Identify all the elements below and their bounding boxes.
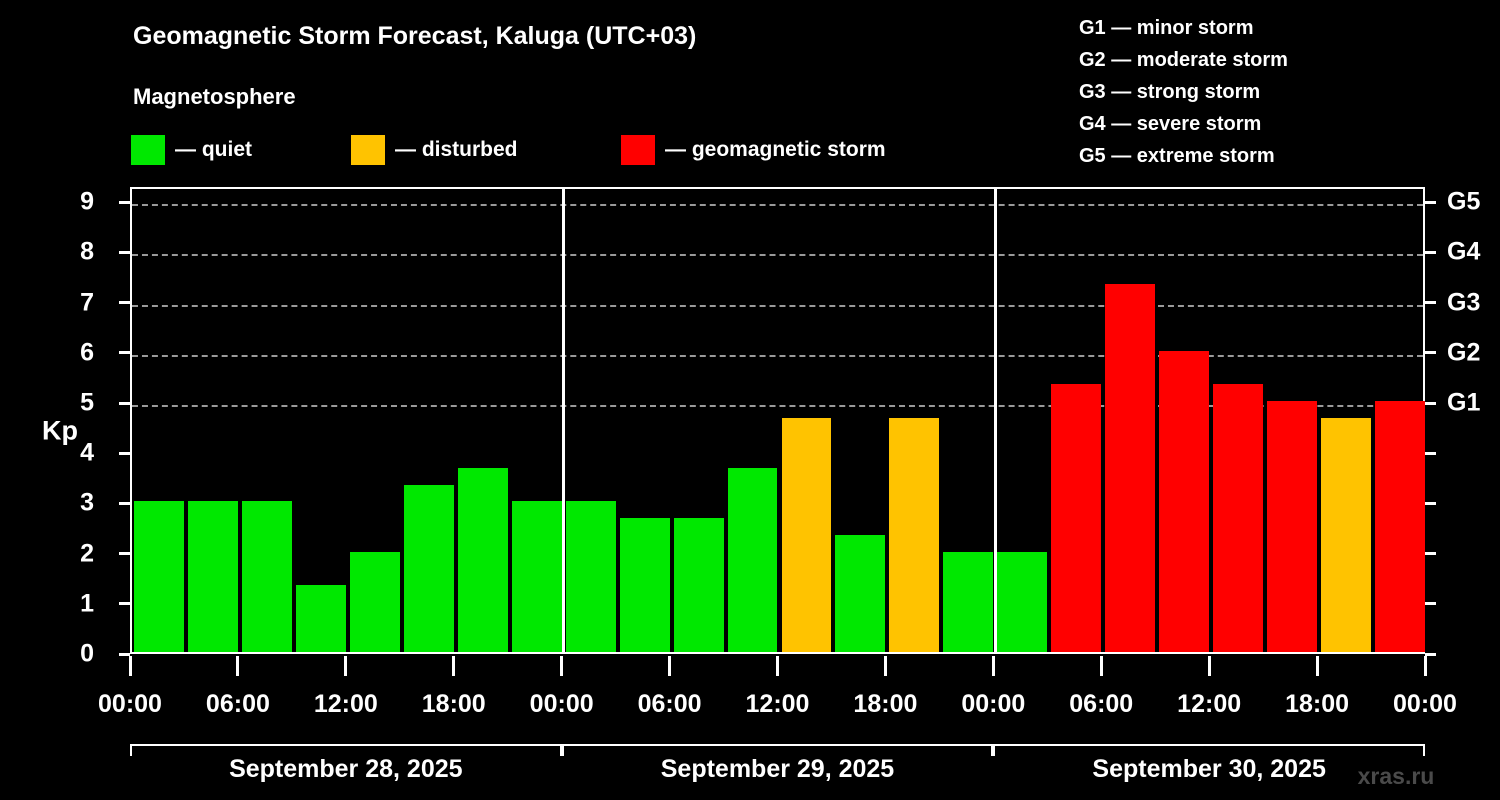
g-scale-legend: G1 — minor stormG2 — moderate stormG3 — … xyxy=(1079,12,1288,172)
x-tick-mark-4 xyxy=(560,656,563,676)
bar xyxy=(566,501,616,652)
x-tick-label-8: 00:00 xyxy=(961,690,1025,719)
x-tick-mark-2 xyxy=(344,656,347,676)
bar xyxy=(782,418,832,652)
legend-swatch-icon xyxy=(621,135,655,165)
x-tick-label-12: 00:00 xyxy=(1393,690,1457,719)
bar xyxy=(835,535,885,652)
magnetosphere-label: Magnetosphere xyxy=(133,84,296,110)
y-tick-label-2: 2 xyxy=(54,539,94,568)
bar xyxy=(1105,284,1155,652)
plot-frame xyxy=(130,187,1425,654)
plot-area xyxy=(132,189,1423,652)
x-tick-label-3: 18:00 xyxy=(422,690,486,719)
y-tick-mark-6 xyxy=(119,351,130,354)
bar xyxy=(997,552,1047,652)
x-tick-label-7: 18:00 xyxy=(853,690,917,719)
bar xyxy=(188,501,238,652)
g-legend-row-3: G3 — strong storm xyxy=(1079,76,1288,108)
bar xyxy=(1051,384,1101,652)
g-tick-label-G4: G4 xyxy=(1447,238,1480,267)
y-tick-mark-2 xyxy=(119,552,130,555)
y-tick-label-7: 7 xyxy=(54,288,94,317)
bar xyxy=(889,418,939,652)
bar xyxy=(458,468,508,652)
day-divider-2 xyxy=(994,189,997,652)
x-tick-mark-11 xyxy=(1316,656,1319,676)
g-legend-row-2: G2 — moderate storm xyxy=(1079,44,1288,76)
x-tick-mark-1 xyxy=(236,656,239,676)
g-minor-tick-kp-0 xyxy=(1425,653,1436,656)
y-tick-mark-3 xyxy=(119,502,130,505)
y-tick-label-9: 9 xyxy=(54,188,94,217)
x-tick-label-9: 06:00 xyxy=(1069,690,1133,719)
gridline-kp-6 xyxy=(132,355,1423,357)
bar xyxy=(674,518,724,652)
bar xyxy=(512,501,562,652)
gridline-kp-9 xyxy=(132,204,1423,206)
date-label-1: September 28, 2025 xyxy=(130,755,562,784)
g-minor-tick-kp-2 xyxy=(1425,552,1436,555)
bar xyxy=(350,552,400,652)
g-tick-mark-G5 xyxy=(1425,201,1436,204)
g-tick-mark-G3 xyxy=(1425,301,1436,304)
g-tick-mark-G1 xyxy=(1425,402,1436,405)
x-tick-label-11: 18:00 xyxy=(1285,690,1349,719)
x-tick-mark-5 xyxy=(668,656,671,676)
y-tick-label-5: 5 xyxy=(54,389,94,418)
legend-label: — quiet xyxy=(175,138,252,162)
bar xyxy=(943,552,993,652)
y-tick-label-1: 1 xyxy=(54,589,94,618)
y-tick-mark-9 xyxy=(119,201,130,204)
bar xyxy=(1321,418,1371,652)
x-tick-label-2: 12:00 xyxy=(314,690,378,719)
x-tick-mark-3 xyxy=(452,656,455,676)
gridline-kp-7 xyxy=(132,305,1423,307)
g-minor-tick-kp-4 xyxy=(1425,452,1436,455)
g-legend-row-4: G4 — severe storm xyxy=(1079,108,1288,140)
y-tick-mark-4 xyxy=(119,452,130,455)
x-tick-mark-6 xyxy=(776,656,779,676)
y-tick-mark-8 xyxy=(119,251,130,254)
bar xyxy=(728,468,778,652)
y-tick-label-0: 0 xyxy=(54,640,94,669)
legend-swatch-icon xyxy=(351,135,385,165)
bar xyxy=(1159,351,1209,652)
bar xyxy=(1375,401,1425,652)
x-tick-mark-9 xyxy=(1100,656,1103,676)
y-tick-mark-7 xyxy=(119,301,130,304)
x-tick-label-4: 00:00 xyxy=(530,690,594,719)
page-title: Geomagnetic Storm Forecast, Kaluga (UTC+… xyxy=(133,22,696,51)
legend-entry-0: — quiet xyxy=(131,134,252,166)
bar xyxy=(134,501,184,652)
y-tick-label-3: 3 xyxy=(54,489,94,518)
g-tick-mark-G4 xyxy=(1425,251,1436,254)
g-tick-label-G2: G2 xyxy=(1447,338,1480,367)
x-tick-label-1: 06:00 xyxy=(206,690,270,719)
y-tick-mark-1 xyxy=(119,602,130,605)
bar xyxy=(296,585,346,652)
x-tick-label-0: 00:00 xyxy=(98,690,162,719)
x-tick-label-6: 12:00 xyxy=(746,690,810,719)
g-legend-row-1: G1 — minor storm xyxy=(1079,12,1288,44)
x-tick-mark-7 xyxy=(884,656,887,676)
bar xyxy=(1267,401,1317,652)
g-tick-label-G1: G1 xyxy=(1447,389,1480,418)
legend-entry-2: — geomagnetic storm xyxy=(621,134,886,166)
x-tick-mark-8 xyxy=(992,656,995,676)
legend-label: — disturbed xyxy=(395,138,518,162)
x-tick-mark-10 xyxy=(1208,656,1211,676)
x-tick-mark-12 xyxy=(1424,656,1427,676)
g-minor-tick-kp-1 xyxy=(1425,602,1436,605)
geomagnetic-forecast-chart: Geomagnetic Storm Forecast, Kaluga (UTC+… xyxy=(0,0,1500,800)
bar xyxy=(242,501,292,652)
day-divider-1 xyxy=(562,189,565,652)
legend-entry-1: — disturbed xyxy=(351,134,518,166)
y-tick-label-8: 8 xyxy=(54,238,94,267)
gridline-kp-8 xyxy=(132,254,1423,256)
legend-label: — geomagnetic storm xyxy=(665,138,886,162)
y-tick-mark-5 xyxy=(119,402,130,405)
date-label-3: September 30, 2025 xyxy=(993,755,1425,784)
g-legend-row-5: G5 — extreme storm xyxy=(1079,140,1288,172)
g-tick-label-G5: G5 xyxy=(1447,188,1480,217)
y-tick-label-4: 4 xyxy=(54,439,94,468)
x-tick-mark-0 xyxy=(129,656,132,676)
legend-swatch-icon xyxy=(131,135,165,165)
g-tick-mark-G2 xyxy=(1425,351,1436,354)
date-label-2: September 29, 2025 xyxy=(562,755,994,784)
g-minor-tick-kp-3 xyxy=(1425,502,1436,505)
bar xyxy=(620,518,670,652)
x-tick-label-5: 06:00 xyxy=(638,690,702,719)
bar xyxy=(1213,384,1263,652)
y-tick-label-6: 6 xyxy=(54,338,94,367)
x-tick-label-10: 12:00 xyxy=(1177,690,1241,719)
g-tick-label-G3: G3 xyxy=(1447,288,1480,317)
bar xyxy=(404,485,454,652)
